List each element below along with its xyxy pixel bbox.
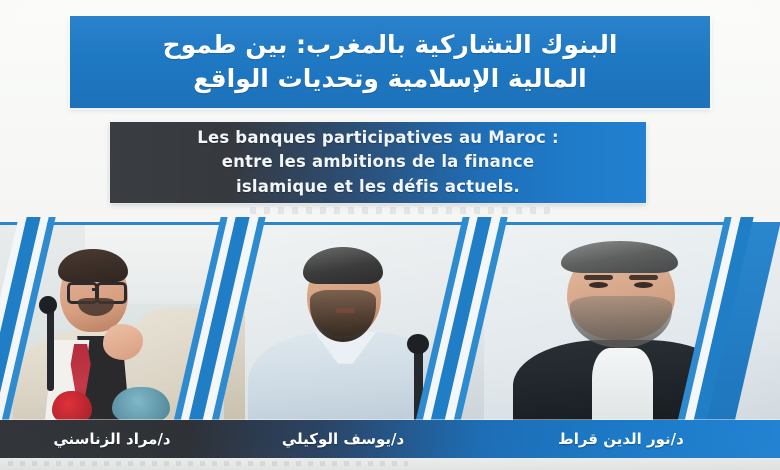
scan-artifact-line bbox=[250, 207, 550, 214]
speaker-photo-right bbox=[462, 225, 780, 423]
arabic-title-text: البنوك التشاركية بالمغرب: بين طموح المال… bbox=[151, 28, 630, 97]
speaker-photo-strip bbox=[0, 222, 780, 423]
speaker-photo-center bbox=[224, 225, 462, 423]
french-subtitle-banner: Les banques participatives au Maroc : en… bbox=[110, 122, 646, 203]
speaker-names-bar: د/مراد الزناسني د/يوسف الوكيلي د/نور الد… bbox=[0, 420, 780, 458]
portrait-art-center bbox=[224, 225, 462, 423]
speaker-photo-left bbox=[0, 225, 224, 423]
portrait-art-right bbox=[462, 225, 780, 423]
speaker-name-right: د/نور الدين قراط bbox=[462, 430, 780, 448]
portrait-art-left bbox=[0, 225, 224, 423]
speaker-name-left: د/مراد الزناسني bbox=[0, 430, 224, 448]
speaker-name-center: د/يوسف الوكيلي bbox=[224, 430, 462, 448]
arabic-title-banner: البنوك التشاركية بالمغرب: بين طموح المال… bbox=[70, 16, 710, 108]
poster-root: البنوك التشاركية بالمغرب: بين طموح المال… bbox=[0, 0, 780, 470]
french-subtitle-text: Les banques participatives au Maroc : en… bbox=[187, 126, 569, 198]
footer-sliver bbox=[0, 458, 780, 470]
